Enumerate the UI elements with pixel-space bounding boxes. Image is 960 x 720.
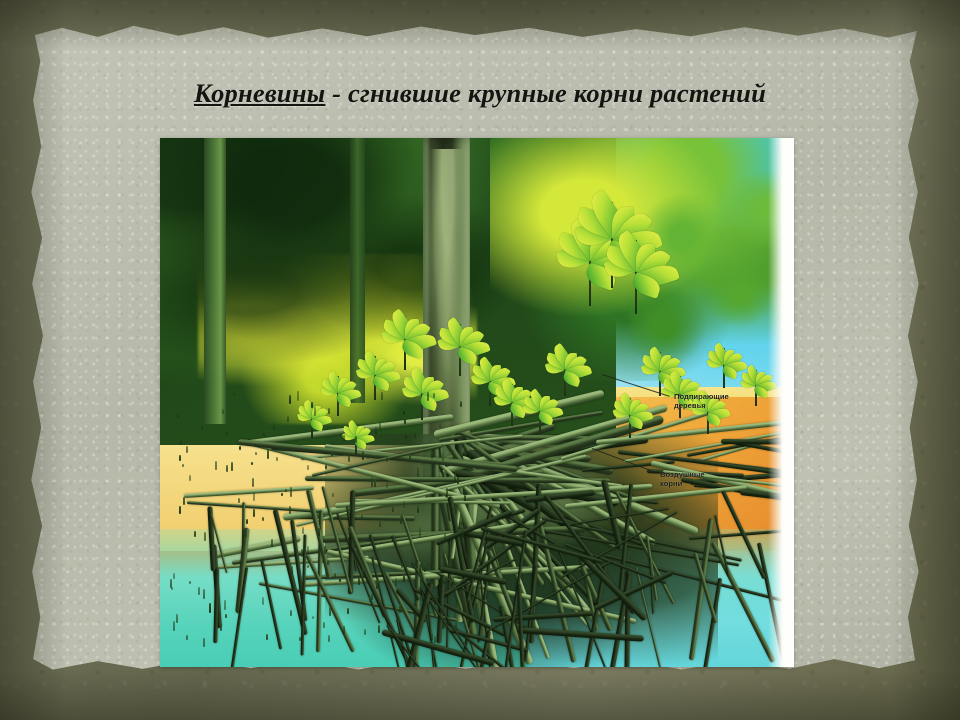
root-stroke [431, 447, 439, 587]
seedling-peg [454, 473, 456, 483]
seedling-peg [291, 566, 293, 574]
seedling-peg [452, 558, 454, 561]
seedling-peg [434, 636, 436, 642]
mangrove-sprout [613, 398, 647, 438]
seedling-peg [245, 529, 247, 538]
seedling-peg [263, 431, 265, 436]
seedling-peg [400, 516, 402, 524]
seedling-peg [405, 430, 407, 439]
seedling-peg [173, 621, 175, 631]
seedling-peg [378, 625, 380, 633]
mangrove-sprout [605, 240, 667, 314]
seedling-peg [297, 391, 299, 400]
seedling-peg [233, 391, 235, 395]
seedling-peg [367, 454, 369, 459]
seedling-peg [314, 407, 316, 416]
secondary-trunk-left [204, 138, 226, 424]
seedling-peg [343, 435, 345, 442]
page-title-container: Корневины - сгнившие крупные корни расте… [0, 78, 960, 109]
seedling-peg [409, 454, 411, 459]
seedling-peg [431, 451, 433, 458]
seedling-peg [403, 574, 405, 582]
seedling-peg [399, 604, 401, 613]
seedling-peg [446, 488, 448, 498]
seedling-peg [201, 424, 203, 429]
seedling-peg [287, 416, 289, 422]
seedling-peg [349, 504, 351, 514]
mangrove-sprout [298, 404, 327, 438]
seedling-peg [444, 533, 446, 543]
seedling-peg [231, 462, 233, 471]
seedling-peg [324, 546, 326, 555]
illustration-image: Подпирающие деревьяВоздушные корни [160, 138, 794, 667]
mangrove-sprout [741, 370, 771, 406]
page-title: Корневины - сгнившие крупные корни расте… [194, 78, 766, 109]
seedling-peg [403, 501, 405, 508]
seedling-peg [424, 563, 426, 572]
seedling-peg [198, 587, 200, 595]
seedling-peg [364, 629, 366, 635]
seedling-peg [215, 461, 217, 471]
seedling-peg [404, 417, 406, 423]
seedling-peg [371, 477, 373, 487]
page-title-term: Корневины [194, 78, 325, 108]
seedling-peg [452, 507, 454, 510]
annotation-label-aerial-roots: Воздушные корни [660, 470, 705, 489]
seedling-peg [253, 509, 255, 517]
seedling-peg [464, 495, 466, 500]
seedling-peg [386, 482, 388, 489]
seedling-peg [386, 456, 388, 463]
page-title-rest: сгнившие крупные корни растений [348, 78, 766, 108]
seedling-peg [183, 497, 185, 504]
seedling-peg [311, 402, 313, 409]
seedling-peg [375, 427, 377, 434]
seedling-peg [225, 614, 227, 617]
seedling-peg [419, 564, 421, 573]
seedling-peg [414, 429, 416, 438]
seedling-peg [419, 527, 421, 537]
seedling-peg [461, 453, 463, 457]
seedling-peg [262, 597, 264, 605]
seedling-peg [253, 492, 255, 502]
seedling-peg [271, 539, 273, 547]
seedling-peg [331, 451, 333, 457]
seedling-peg [170, 579, 172, 587]
seedling-peg [379, 421, 381, 429]
seedling-peg [220, 623, 222, 631]
seedling-peg [226, 465, 228, 472]
seedling-peg [224, 600, 226, 610]
seedling-peg [376, 580, 378, 589]
seedling-peg [347, 608, 349, 614]
mangrove-sprout [403, 374, 442, 420]
scan-white-edge [768, 138, 794, 667]
seedling-peg [209, 603, 211, 613]
seedling-peg [203, 638, 205, 647]
seedling-peg [339, 577, 341, 582]
seedling-peg [186, 635, 188, 640]
mangrove-sprout [357, 356, 394, 400]
seedling-peg [301, 549, 303, 557]
seedling-peg [289, 506, 291, 514]
seedling-peg [362, 566, 364, 575]
seedling-peg [290, 487, 292, 497]
seedling-peg [186, 446, 188, 453]
mangrove-sprout [707, 348, 741, 388]
page-title-separator: - [325, 78, 348, 108]
mangrove-sprout [546, 350, 585, 396]
seedling-peg [267, 449, 269, 458]
seedling-peg [358, 578, 360, 585]
seedling-peg [307, 465, 309, 470]
seedling-peg [226, 429, 228, 435]
seedling-peg [262, 517, 264, 520]
seedling-peg [238, 498, 240, 504]
seedling-peg [252, 478, 254, 487]
seedling-peg [189, 475, 191, 481]
seedling-peg [329, 517, 331, 522]
seedling-peg [452, 578, 454, 585]
seedling-peg [443, 578, 445, 584]
annotation-label-propping-trees: Подпирающие деревья [674, 392, 729, 411]
seedling-peg [417, 467, 419, 477]
seedling-peg [392, 506, 394, 512]
seedling-peg [222, 409, 224, 414]
seedling-peg [427, 392, 429, 402]
seedling-peg [204, 532, 206, 541]
seedling-peg [355, 436, 357, 443]
seedling-peg [273, 421, 275, 430]
seedling-peg [189, 581, 191, 584]
slide-canvas: Корневины - сгнившие крупные корни расте… [0, 0, 960, 720]
seedling-peg [442, 452, 444, 461]
seedling-peg [328, 408, 330, 414]
seedling-peg [417, 505, 419, 512]
seedling-peg [318, 528, 320, 536]
seedling-peg [177, 411, 179, 418]
seedling-peg [371, 593, 373, 600]
seedling-peg [173, 573, 175, 579]
mangrove-sprout [523, 394, 557, 434]
seedling-peg [361, 515, 363, 519]
seedling-peg [348, 584, 350, 593]
seedling-peg [323, 622, 325, 627]
seedling-peg [194, 531, 196, 537]
seedling-peg [389, 628, 391, 636]
seedling-peg [455, 620, 457, 628]
seedling-peg [421, 460, 423, 465]
seedling-peg [302, 527, 304, 534]
seedling-peg [401, 563, 403, 568]
seedling-peg [439, 423, 441, 428]
seedling-peg [325, 465, 327, 469]
seedling-peg [395, 578, 397, 586]
seedling-peg [332, 493, 334, 497]
seedling-peg [307, 546, 309, 554]
seedling-peg [460, 401, 462, 407]
seedling-peg [290, 610, 292, 616]
seedling-peg [176, 614, 178, 623]
seedling-peg [457, 477, 459, 484]
seedling-peg [329, 607, 331, 616]
seedling-peg [285, 489, 287, 493]
seedling-peg [239, 446, 241, 450]
seedling-peg [462, 527, 464, 535]
seedling-peg [180, 436, 182, 446]
